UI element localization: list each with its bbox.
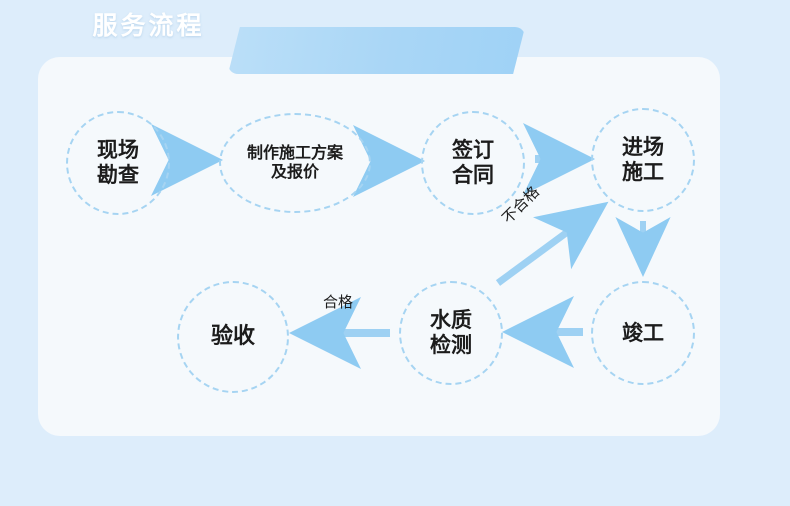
edge-label-pass: 合格 <box>323 291 353 312</box>
node-construction-plan[interactable]: 制作施工方案 及报价 <box>219 113 371 213</box>
node-start-construction[interactable]: 进场 施工 <box>591 108 695 212</box>
node-label: 竣工 <box>622 321 664 346</box>
node-label: 进场 施工 <box>622 135 664 185</box>
page-title: 服务流程 <box>0 0 297 47</box>
node-water-quality-test[interactable]: 水质 检测 <box>399 281 503 385</box>
node-label: 水质 检测 <box>430 308 472 358</box>
node-completion[interactable]: 竣工 <box>591 281 695 385</box>
node-label: 制作施工方案 及报价 <box>247 144 343 182</box>
node-label: 现场 勘查 <box>97 138 139 188</box>
node-label: 验收 <box>211 324 255 350</box>
flowchart-stage: 服务流程 现场 勘查 制作施工方案 及报价 签订 合同 <box>0 0 790 506</box>
node-label: 签订 合同 <box>452 138 494 188</box>
node-acceptance[interactable]: 验收 <box>177 281 289 393</box>
node-site-survey[interactable]: 现场 勘查 <box>66 111 170 215</box>
